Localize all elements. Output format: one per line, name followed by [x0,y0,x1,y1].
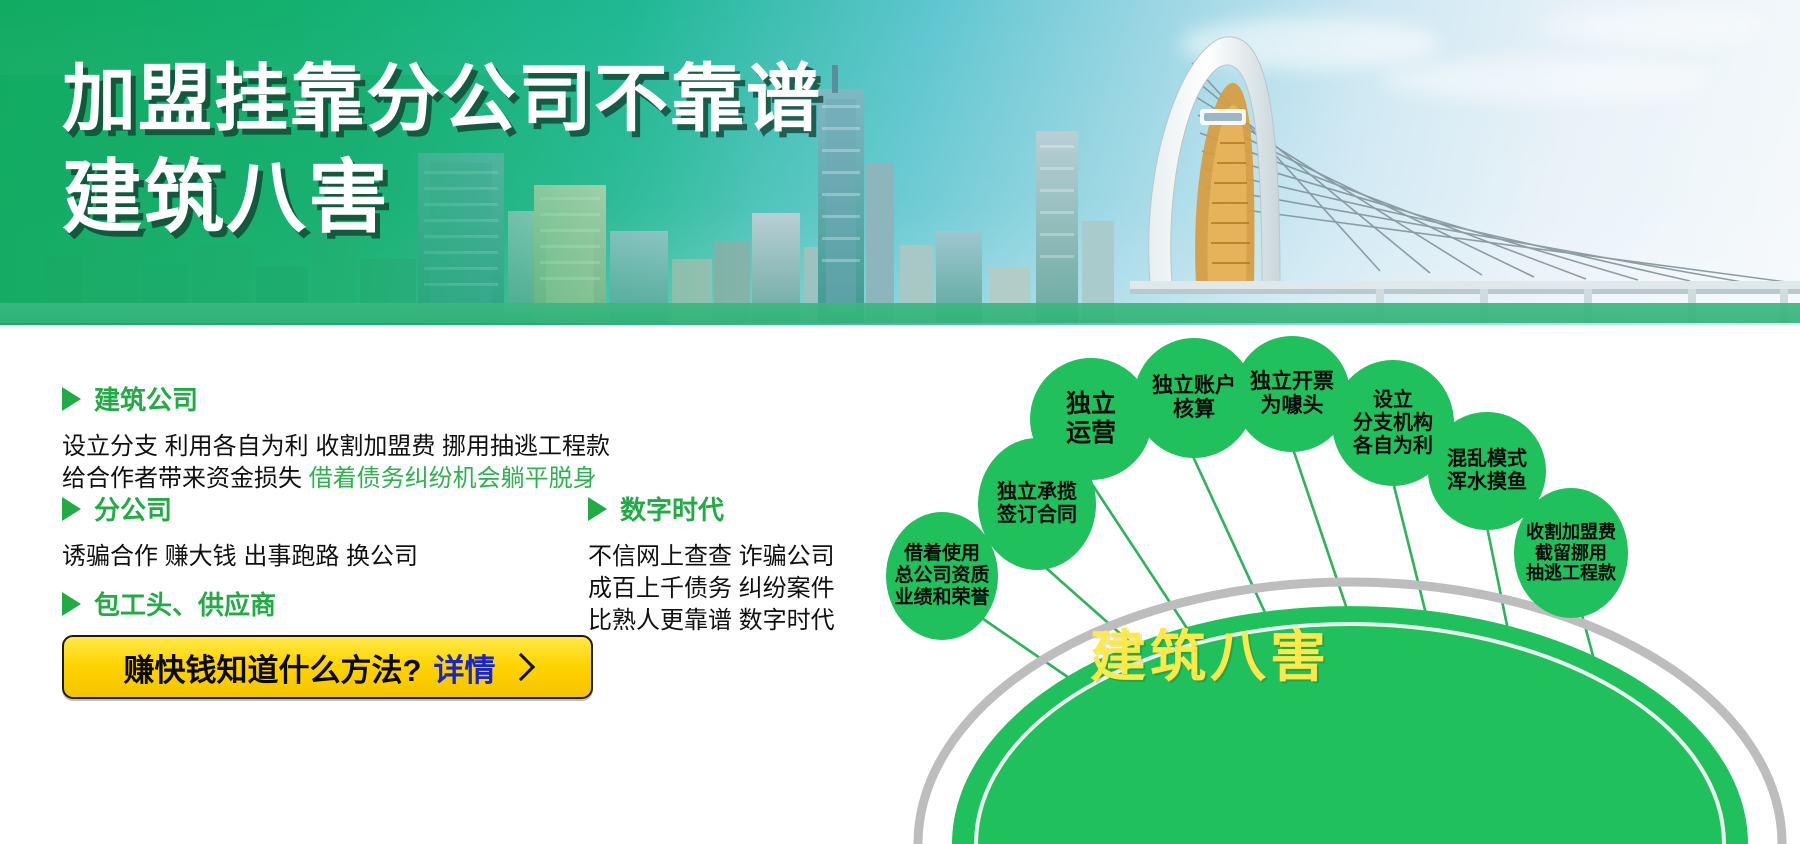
body-text: 成百上千债务 纠纷案件 [588,575,835,602]
section-body-line: 不信网上查查 诈骗公司 [588,541,835,573]
section-title: 数字时代 [620,490,724,527]
bubble-label: 借着使用 总公司资质 业绩和荣誉 [894,543,989,609]
body-text-highlight: 借着债务纠纷机会躺平脱身 [309,465,597,492]
triangle-bullet-icon [588,497,607,521]
bubble-harvest-franchise-fee[interactable]: 收割加盟费 截留挪用 抽逃工程款 [1514,488,1628,618]
hero-title-block: 加盟挂靠分公司不靠谱 建筑八害 [62,62,822,238]
body-text: 不信网上查查 诈骗公司 [588,543,835,570]
cta-button[interactable]: 赚快钱知道什么方法? 详情 [62,635,593,699]
section-header[interactable]: 数字时代 [588,490,835,527]
balloon-diagram: 借着使用 总公司资质 业绩和荣誉 独立承揽 签订合同 独立 运营 独立账户 核算… [900,330,1800,844]
section-title: 建筑公司 [94,380,198,417]
section-header[interactable]: 建筑公司 [62,380,610,417]
section-construction-company: 建筑公司 设立分支 利用各自为利 收割加盟费 挪用抽逃工程款 给合作者带来资金损… [62,380,610,495]
triangle-bullet-icon [62,592,81,616]
body-text: 诱骗合作 赚大钱 出事跑路 换公司 [62,543,418,570]
poster-root: 加盟挂靠分公司不靠谱 建筑八害 建筑公司 设立分支 利用各自为利 收割加盟费 挪… [0,0,1800,844]
bubble-label: 独立账户 核算 [1152,374,1236,422]
section-title: 分公司 [94,490,172,527]
section-header[interactable]: 包工头、供应商 [62,585,435,622]
liede-bridge-illustration [1130,27,1800,327]
bubble-label: 混乱模式 浑水摸鱼 [1447,448,1527,494]
section-body-line: 成百上千债务 纠纷案件 [588,573,835,605]
section-body-line: 比熟人更靠谱 数字时代 [588,605,835,637]
left-content-column: 建筑公司 设立分支 利用各自为利 收割加盟费 挪用抽逃工程款 给合作者带来资金损… [0,380,900,844]
section-header[interactable]: 分公司 [62,490,418,527]
dome-label: 建筑八害 [1090,612,1330,693]
body-text: 比熟人更靠谱 数字时代 [588,607,835,634]
body-text: 给合作者带来资金损失 [62,465,309,492]
triangle-bullet-icon [62,497,81,521]
section-body-line: 诱骗合作 赚大钱 出事跑路 换公司 [62,541,418,573]
bubble-use-head-office-credentials[interactable]: 借着使用 总公司资质 业绩和荣誉 [886,512,998,640]
hero-banner: 加盟挂靠分公司不靠谱 建筑八害 [0,0,1800,373]
section-branch-company: 分公司 诱骗合作 赚大钱 出事跑路 换公司 [62,490,418,573]
cta-question-label: 赚快钱知道什么方法? [124,645,422,690]
hero-title-line-1: 加盟挂靠分公司不靠谱 [62,62,822,136]
bubble-label: 独立承揽 签订合同 [997,481,1077,527]
hero-title-line-2: 建筑八害 [62,158,822,238]
section-title: 包工头、供应商 [94,585,276,622]
section-body-line: 设立分支 利用各自为利 收割加盟费 挪用抽逃工程款 [62,431,610,463]
bubble-label: 独立 运营 [1066,390,1116,448]
triangle-bullet-icon [62,387,81,411]
chevron-right-icon [507,653,535,681]
cta-detail-link[interactable]: 详情 [433,645,495,690]
bubble-independent-operation[interactable]: 独立 运营 [1030,358,1152,480]
bubble-label: 独立开票 为噱头 [1250,370,1334,418]
bubble-label: 收割加盟费 截留挪用 抽逃工程款 [1526,522,1616,584]
body-text: 设立分支 利用各自为利 收割加盟费 挪用抽逃工程款 [62,433,610,460]
section-digital-era: 数字时代 不信网上查查 诈骗公司 成百上千债务 纠纷案件 比熟人更靠谱 数字时代 [588,490,835,637]
bubble-label: 设立 分支机构 各自为利 [1353,389,1433,458]
